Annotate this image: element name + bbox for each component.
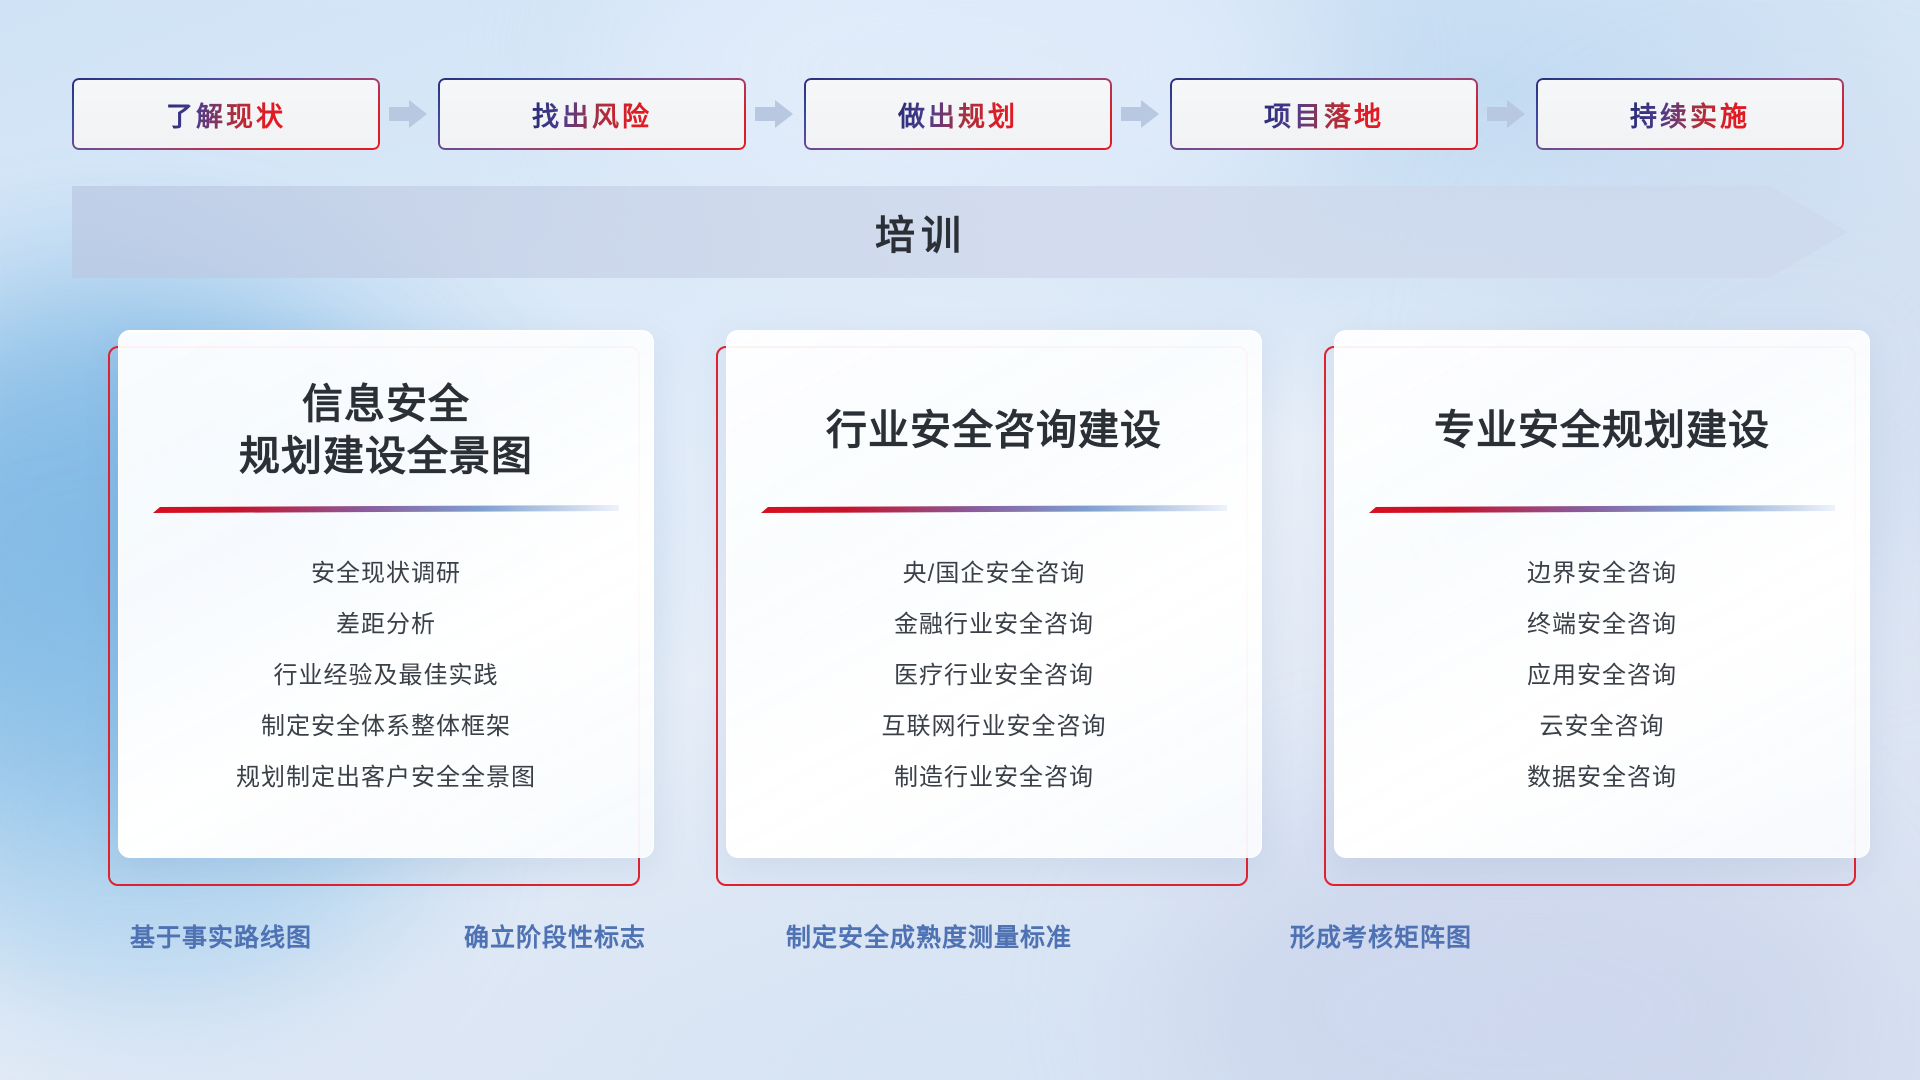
caption-3: 形成考核矩阵图 bbox=[1290, 918, 1472, 954]
caption-1: 确立阶段性标志 bbox=[464, 918, 646, 954]
card-item-list: 安全现状调研 差距分析 行业经验及最佳实践 制定安全体系整体框架 规划制定出客户… bbox=[153, 548, 619, 803]
list-item: 差距分析 bbox=[336, 599, 436, 650]
chevron-right-arrow-icon bbox=[380, 78, 438, 150]
card-row: 信息安全 规划建设全景图 bbox=[110, 330, 1870, 890]
card-body: 信息安全 规划建设全景图 bbox=[118, 330, 654, 858]
list-item: 制造行业安全咨询 bbox=[894, 752, 1094, 803]
step-item-1[interactable]: 找出风险 bbox=[438, 78, 746, 150]
list-item: 规划制定出客户安全全景图 bbox=[236, 752, 536, 803]
step-label: 做出规划 bbox=[898, 95, 1018, 134]
card-title-line: 行业安全咨询建设 bbox=[826, 404, 1162, 456]
card-2[interactable]: 专业安全规划建设 bbox=[1326, 330, 1870, 872]
card-item-list: 央/国企安全咨询 金融行业安全咨询 医疗行业安全咨询 互联网行业安全咨询 制造行… bbox=[761, 548, 1227, 803]
card-item-list: 边界安全咨询 终端安全咨询 应用安全咨询 云安全咨询 数据安全咨询 bbox=[1369, 548, 1835, 803]
list-item: 边界安全咨询 bbox=[1527, 548, 1677, 599]
card-title-line: 专业安全规划建设 bbox=[1434, 404, 1770, 456]
step-label: 项目落地 bbox=[1264, 95, 1384, 134]
card-title: 专业安全规划建设 bbox=[1434, 377, 1770, 483]
list-item: 互联网行业安全咨询 bbox=[882, 701, 1107, 752]
card-title-line: 规划建设全景图 bbox=[239, 430, 533, 482]
chevron-right-arrow-icon bbox=[1478, 78, 1536, 150]
list-item: 制定安全体系整体框架 bbox=[261, 701, 511, 752]
list-item: 金融行业安全咨询 bbox=[894, 599, 1094, 650]
step-item-3[interactable]: 项目落地 bbox=[1170, 78, 1478, 150]
card-title-line: 信息安全 bbox=[239, 378, 533, 430]
training-banner: 培训 bbox=[72, 186, 1848, 278]
list-item: 终端安全咨询 bbox=[1527, 599, 1677, 650]
card-0[interactable]: 信息安全 规划建设全景图 bbox=[110, 330, 654, 872]
step-label: 持续实施 bbox=[1630, 95, 1750, 134]
card-body: 行业安全咨询建设 bbox=[726, 330, 1262, 858]
list-item: 行业经验及最佳实践 bbox=[274, 650, 499, 701]
card-title: 信息安全 规划建设全景图 bbox=[239, 377, 533, 483]
list-item: 云安全咨询 bbox=[1540, 701, 1665, 752]
caption-0: 基于事实路线图 bbox=[130, 918, 312, 954]
step-item-2[interactable]: 做出规划 bbox=[804, 78, 1112, 150]
card-divider bbox=[1369, 505, 1835, 514]
card-divider bbox=[153, 505, 619, 514]
list-item: 安全现状调研 bbox=[311, 548, 461, 599]
step-item-0[interactable]: 了解现状 bbox=[72, 78, 380, 150]
card-1[interactable]: 行业安全咨询建设 bbox=[718, 330, 1262, 872]
caption-row: 基于事实路线图 确立阶段性标志 制定安全成熟度测量标准 形成考核矩阵图 bbox=[0, 918, 1920, 962]
process-step-flow: 了解现状 找出风险 做出规划 项目落地 持续实施 bbox=[72, 78, 1848, 150]
list-item: 应用安全咨询 bbox=[1527, 650, 1677, 701]
list-item: 央/国企安全咨询 bbox=[903, 548, 1086, 599]
list-item: 数据安全咨询 bbox=[1527, 752, 1677, 803]
chevron-right-arrow-icon bbox=[746, 78, 804, 150]
list-item: 医疗行业安全咨询 bbox=[894, 650, 1094, 701]
card-divider bbox=[761, 505, 1227, 514]
step-item-4[interactable]: 持续实施 bbox=[1536, 78, 1844, 150]
step-label: 找出风险 bbox=[532, 95, 652, 134]
step-label: 了解现状 bbox=[166, 95, 286, 134]
banner-label: 培训 bbox=[72, 186, 1848, 278]
card-title: 行业安全咨询建设 bbox=[826, 377, 1162, 483]
chevron-right-arrow-icon bbox=[1112, 78, 1170, 150]
card-body: 专业安全规划建设 bbox=[1334, 330, 1870, 858]
caption-2: 制定安全成熟度测量标准 bbox=[786, 918, 1072, 954]
